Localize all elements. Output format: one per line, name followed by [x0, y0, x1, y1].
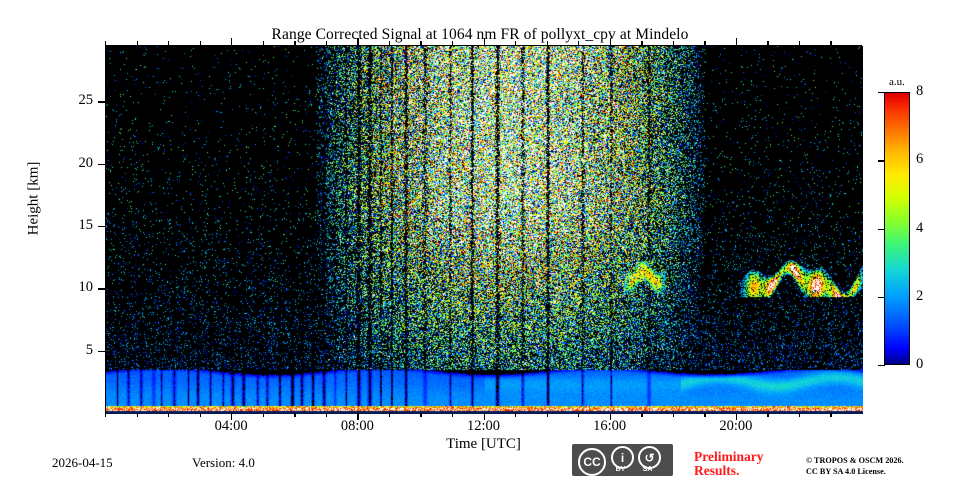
x-tick-mark [673, 413, 674, 417]
colorbar-tick-label: 8 [916, 83, 942, 100]
cc-logo-text: CC [583, 455, 600, 469]
x-tick-mark [515, 41, 516, 45]
x-tick-label: 20:00 [701, 418, 771, 435]
x-tick-mark [641, 41, 642, 45]
cc-logo-icon: CC [578, 448, 606, 476]
figure-title: Range Corrected Signal at 1064 nm FR of … [0, 26, 960, 44]
x-tick-mark [578, 41, 579, 45]
x-tick-mark [231, 38, 232, 45]
colorbar-unit-label: a.u. [876, 76, 918, 88]
y-tick-label: 25 [53, 92, 93, 109]
x-tick-mark [736, 38, 737, 45]
y-tick-label: 20 [53, 155, 93, 172]
preliminary-results-notice: Preliminary Results. [694, 450, 804, 478]
x-tick-mark [168, 41, 169, 45]
x-tick-mark [799, 413, 800, 417]
cc-by-glyph: i [621, 451, 624, 465]
x-tick-mark [420, 413, 421, 417]
x-tick-label: 12:00 [449, 418, 519, 435]
x-tick-mark [137, 413, 138, 417]
colorbar-tick-label: 2 [916, 288, 942, 305]
colorbar[interactable] [884, 92, 910, 365]
x-tick-mark [200, 41, 201, 45]
x-tick-mark [641, 413, 642, 417]
date-label: 2026-04-15 [52, 455, 113, 471]
cc-sa-glyph: ↺ [644, 451, 654, 465]
colorbar-canvas [885, 93, 909, 364]
x-tick-mark [452, 413, 453, 417]
cc-by-label: BY [610, 466, 631, 473]
x-tick-mark [452, 41, 453, 45]
x-tick-mark [420, 41, 421, 45]
colorbar-tick-mark [878, 365, 885, 366]
colorbar-tick-label: 4 [916, 220, 942, 237]
x-tick-mark [357, 38, 358, 45]
cc-sa-label: SA [637, 466, 658, 473]
x-tick-mark [105, 41, 106, 45]
x-tick-mark [326, 41, 327, 45]
y-tick-label: 10 [53, 279, 93, 296]
x-tick-mark [610, 38, 611, 45]
colorbar-tick-label: 0 [916, 356, 942, 373]
x-tick-mark [326, 413, 327, 417]
x-tick-label: 16:00 [575, 418, 645, 435]
colorbar-tick-mark [878, 160, 885, 161]
x-tick-mark [830, 413, 831, 417]
heatmap-canvas[interactable] [106, 46, 863, 414]
quicklook-figure: Range Corrected Signal at 1064 nm FR of … [0, 0, 960, 480]
x-tick-mark [263, 413, 264, 417]
x-tick-mark [294, 413, 295, 417]
y-tick-label: 15 [53, 217, 93, 234]
lidar-heatmap-plot[interactable] [105, 45, 862, 413]
x-tick-mark [547, 41, 548, 45]
x-tick-mark [799, 41, 800, 45]
colorbar-tick-label: 6 [916, 151, 942, 168]
colorbar-tick-mark [878, 297, 885, 298]
y-tick-mark [98, 164, 105, 165]
preliminary-line-1: Preliminary [694, 450, 804, 464]
copyright-line-2: CC BY SA 4.0 License. [806, 467, 956, 478]
y-tick-label: 5 [53, 342, 93, 359]
x-tick-mark [263, 41, 264, 45]
x-tick-mark [137, 41, 138, 45]
copyright-notice: © TROPOS & OSCM 2026. CC BY SA 4.0 Licen… [806, 456, 956, 477]
x-tick-mark [168, 413, 169, 417]
x-tick-mark [515, 413, 516, 417]
version-label: Version: 4.0 [192, 455, 255, 471]
x-tick-mark [105, 413, 106, 417]
x-tick-mark [484, 38, 485, 45]
colorbar-tick-mark [878, 92, 885, 93]
x-tick-mark [389, 413, 390, 417]
x-tick-mark [830, 41, 831, 45]
x-tick-label: 08:00 [322, 418, 392, 435]
x-tick-mark [673, 41, 674, 45]
x-tick-mark [767, 41, 768, 45]
copyright-line-1: © TROPOS & OSCM 2026. [806, 456, 956, 467]
x-tick-mark [547, 413, 548, 417]
preliminary-line-2: Results. [694, 464, 804, 478]
creative-commons-badge[interactable]: CC i ↺ BY SA [572, 444, 673, 476]
x-tick-mark [704, 413, 705, 417]
x-tick-mark [767, 413, 768, 417]
x-tick-mark [578, 413, 579, 417]
y-tick-mark [98, 351, 105, 352]
x-tick-mark [200, 413, 201, 417]
y-axis-label: Height [km] [26, 69, 43, 329]
x-tick-mark [294, 41, 295, 45]
y-tick-mark [98, 288, 105, 289]
x-tick-mark [389, 41, 390, 45]
x-tick-mark [704, 41, 705, 45]
y-tick-mark [98, 226, 105, 227]
x-tick-label: 04:00 [196, 418, 266, 435]
y-tick-mark [98, 101, 105, 102]
colorbar-tick-mark [878, 229, 885, 230]
